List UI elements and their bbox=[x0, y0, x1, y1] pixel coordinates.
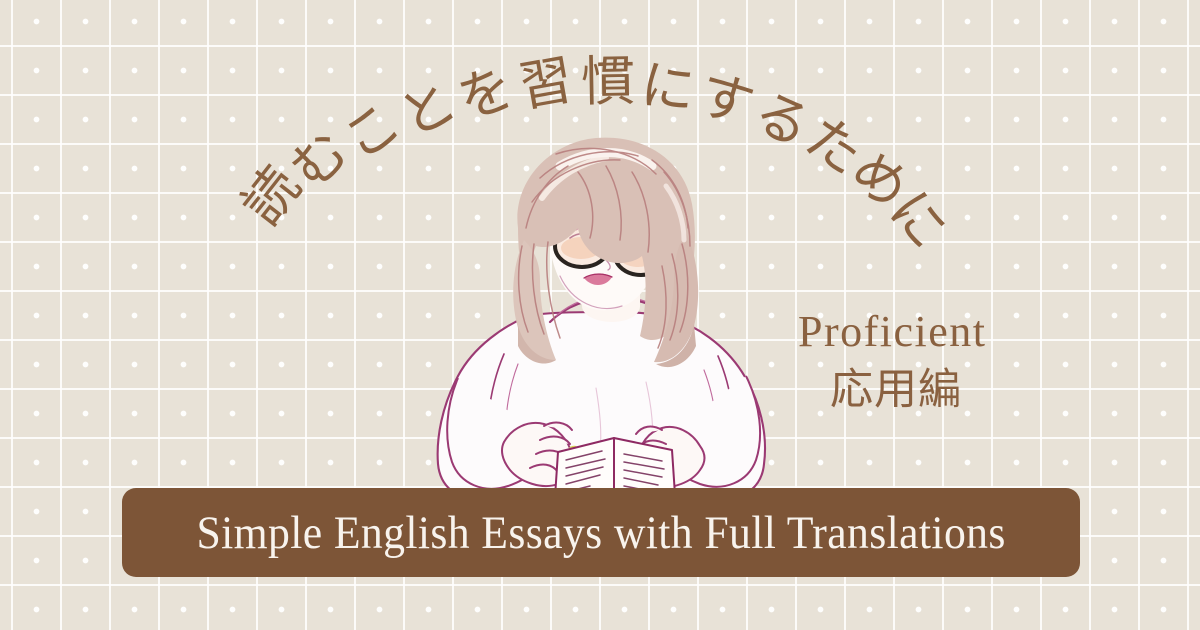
banner-title-text: Simple English Essays with Full Translat… bbox=[196, 506, 1005, 560]
arc-title-char: 習 bbox=[515, 53, 578, 116]
title-banner: Simple English Essays with Full Translat… bbox=[122, 488, 1080, 577]
level-label-english: Proficient bbox=[798, 310, 987, 354]
arc-title-char: に bbox=[638, 58, 699, 119]
arc-title-char: 慣 bbox=[581, 55, 636, 110]
level-label-japanese: 応用編 bbox=[830, 369, 962, 412]
poster-canvas: 読むことを習慣にするために bbox=[0, 0, 1200, 630]
illustration-woman-reading-book bbox=[400, 120, 820, 520]
